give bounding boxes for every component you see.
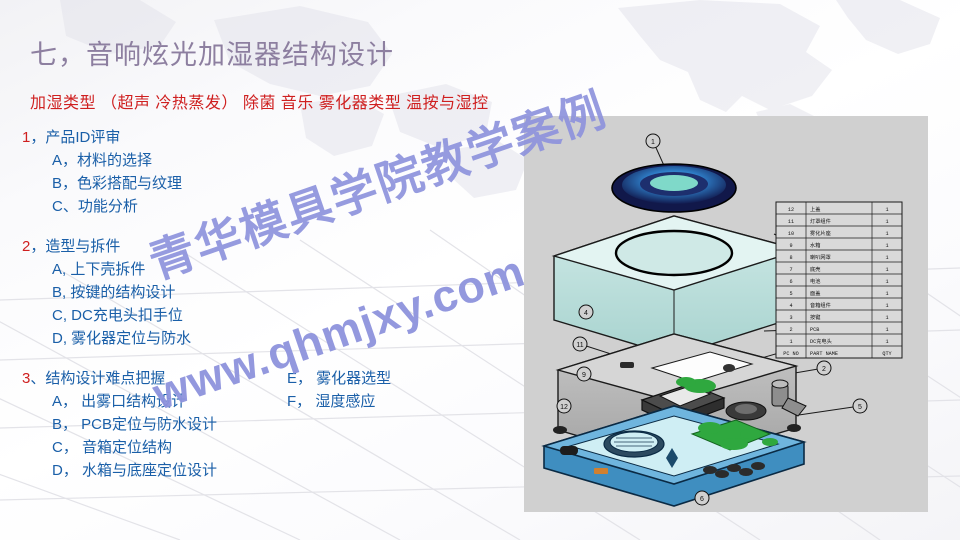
svg-text:1: 1 [885,279,888,285]
svg-text:1: 1 [885,207,888,213]
svg-text:1: 1 [885,255,888,261]
outline-item: F， 湿度感应 [287,390,391,413]
outline-item: A，材料的选择 [22,149,502,172]
slide-title: 七，音响炫光加湿器结构设计 [30,33,394,72]
svg-text:1: 1 [885,303,888,309]
svg-text:PCB: PCB [810,327,819,333]
svg-text:1: 1 [885,243,888,249]
outline-right-column: E， 雾化器选型 F， 湿度感应 [287,367,391,413]
outline-block: 1，产品ID评审 A，材料的选择 B，色彩搭配与纹理 C、功能分析 [22,126,502,218]
outline-item: D， 水箱与底座定位设计 [22,459,502,482]
svg-text:面盖: 面盖 [810,289,820,297]
outline-heading-text: 结构设计难点把握 [45,370,165,387]
slide-subtitle: 加湿类型 （超声 冷热蒸发） 除菌 音乐 雾化器类型 温按与湿控 [30,89,489,113]
outline-block: 3、结构设计难点把握 A， 出雾口结构设计 B， PCB定位与防水设计 C， 音… [22,367,502,482]
svg-text:1: 1 [885,267,888,273]
exploded-view-image: 1 7 8 11 4 9 12 1 2 5 6 [524,116,928,512]
svg-text:12: 12 [560,404,568,411]
outline-heading: 3、结构设计难点把握 [22,367,502,390]
outline-heading: 2，造型与拆件 [22,235,502,258]
svg-text:1: 1 [885,327,888,333]
outline-separator: 、 [30,370,45,387]
svg-text:10: 10 [788,231,794,237]
outline-item: A, 上下壳拆件 [22,258,502,281]
svg-text:DC充电头: DC充电头 [810,337,832,345]
svg-text:1: 1 [885,219,888,225]
svg-text:9: 9 [582,372,586,379]
svg-text:11: 11 [788,219,794,225]
svg-text:3: 3 [789,315,792,321]
outline-item: C, DC充电头扣手位 [22,304,502,327]
svg-text:6: 6 [700,496,704,503]
svg-text:1: 1 [885,315,888,321]
svg-text:7: 7 [789,267,792,273]
outline-item: B，色彩搭配与纹理 [22,172,502,195]
svg-text:喇叭网罩: 喇叭网罩 [810,253,831,261]
svg-text:1: 1 [651,139,655,146]
svg-text:音箱组件: 音箱组件 [810,301,831,309]
svg-text:雾化片座: 雾化片座 [810,229,831,237]
outline-item: C， 音箱定位结构 [22,436,502,459]
outline-item: B, 按键的结构设计 [22,281,502,304]
slide-canvas: 七，音响炫光加湿器结构设计 加湿类型 （超声 冷热蒸发） 除菌 音乐 雾化器类型… [0,0,960,540]
svg-text:灯罩组件: 灯罩组件 [810,217,831,225]
svg-text:PART NAME: PART NAME [810,351,838,357]
outline-item: B， PCB定位与防水设计 [22,413,502,436]
outline-heading-text: 产品ID评审 [45,129,120,146]
svg-text:5: 5 [789,291,792,297]
svg-text:底壳: 底壳 [810,265,820,273]
svg-text:QTY: QTY [882,351,892,357]
svg-text:上盖: 上盖 [810,205,820,213]
outline-item: A， 出雾口结构设计 [22,390,502,413]
svg-text:12: 12 [788,207,794,213]
svg-text:9: 9 [789,243,792,249]
svg-text:4: 4 [789,303,792,309]
svg-text:6: 6 [789,279,792,285]
svg-text:8: 8 [789,255,792,261]
svg-text:水箱: 水箱 [810,241,820,249]
outline-list: 1，产品ID评审 A，材料的选择 B，色彩搭配与纹理 C、功能分析 2，造型与拆… [22,126,502,499]
outline-separator: ， [30,238,45,255]
outline-item: E， 雾化器选型 [287,367,391,390]
svg-text:5: 5 [858,404,862,411]
svg-text:1: 1 [885,231,888,237]
svg-text:4: 4 [584,310,588,317]
svg-text:2: 2 [822,366,826,373]
svg-text:1: 1 [885,339,888,345]
svg-text:11: 11 [576,342,583,349]
svg-text:按键: 按键 [810,313,820,321]
svg-text:1: 1 [885,291,888,297]
outline-item: D, 雾化器定位与防水 [22,327,502,350]
outline-heading: 1，产品ID评审 [22,126,502,149]
svg-text:1: 1 [789,339,792,345]
svg-text:2: 2 [789,327,792,333]
svg-text:电池: 电池 [810,277,820,285]
outline-heading-text: 造型与拆件 [45,238,120,255]
outline-item: C、功能分析 [22,195,502,218]
outline-separator: ， [30,129,45,146]
outline-block: 2，造型与拆件 A, 上下壳拆件 B, 按键的结构设计 C, DC充电头扣手位 … [22,235,502,350]
svg-text:PC NO: PC NO [783,351,799,357]
